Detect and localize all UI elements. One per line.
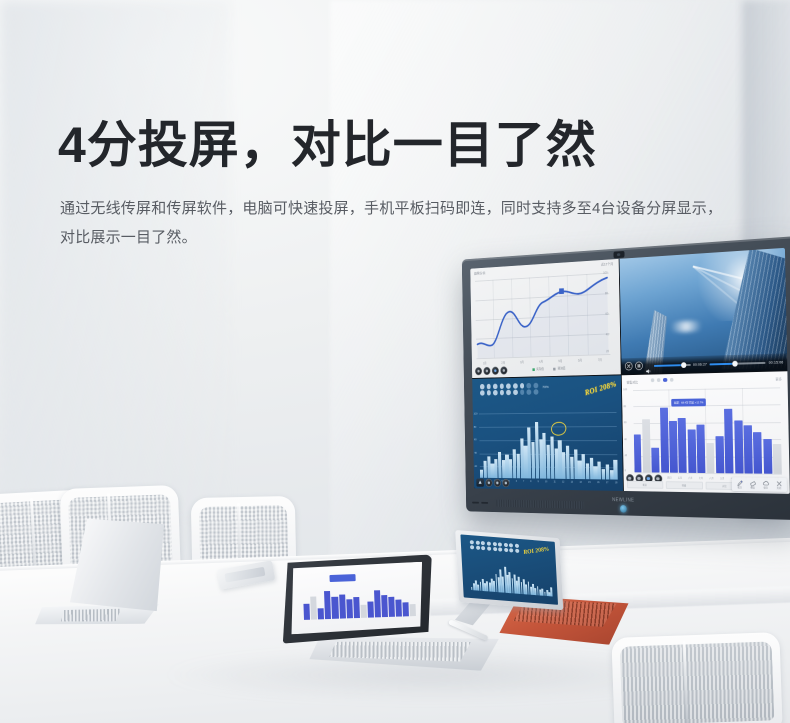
tablet-bar-series — [469, 560, 553, 597]
laptop-tooltip — [329, 574, 355, 582]
port-row — [472, 502, 488, 504]
progress-dot-matrix — [480, 383, 539, 396]
pause-icon[interactable] — [635, 362, 643, 371]
page-description: 通过无线传屏和传屏软件，电脑可快速投屏，手机平板扫码即连，同时支持多至4台设备分… — [60, 195, 736, 253]
mark-button[interactable] — [492, 367, 499, 375]
tablet-roi-annotation: ROI 208% — [523, 546, 550, 555]
mesh-chair — [611, 632, 782, 723]
more-button[interactable] — [502, 479, 509, 487]
q1-plot: 100 80 60 40 20 — [475, 273, 610, 359]
more-button[interactable] — [500, 366, 507, 374]
volume-slider[interactable] — [654, 363, 691, 366]
play-button[interactable] — [485, 479, 492, 487]
eraser-tool[interactable]: 橡皮 — [746, 479, 758, 490]
quadrant-line-chart[interactable]: 趋势分析 近12个月 100 — [470, 259, 620, 378]
laptop-screen[interactable] — [289, 562, 424, 635]
annotation-toolbar[interactable]: 批注 橡皮 保存 关闭 — [732, 477, 787, 491]
tab-overview[interactable]: 概览 — [627, 481, 663, 489]
percent-label: 70% — [542, 384, 548, 389]
q1-title: 趋势分析 — [474, 271, 486, 276]
play-button[interactable] — [475, 367, 482, 375]
close-tool-label: 关闭 — [773, 487, 785, 490]
q1-range-label[interactable]: 近12个月 — [601, 262, 613, 267]
video-progress-slider[interactable] — [710, 361, 766, 365]
tablet-with-keyboard[interactable]: ROI 208% — [450, 530, 634, 652]
cloud — [665, 320, 708, 334]
laptop-rear — [32, 553, 173, 652]
close-icon[interactable] — [624, 362, 632, 371]
mark-button[interactable] — [494, 479, 501, 487]
q3-control-buttons[interactable] — [476, 479, 509, 488]
tablet-screen[interactable]: ROI 208% — [460, 534, 558, 605]
laptop-lid — [280, 554, 435, 643]
q4-plot: 10080 6040 200 本期：68.4万 同比 +12.7% — [633, 387, 782, 474]
eraser-tool-label: 橡皮 — [747, 487, 759, 490]
q4-title: 销售对比 — [626, 380, 638, 385]
page-title: 4分投屏，对比一目了然 — [58, 117, 698, 173]
save-tool-label: 保存 — [760, 487, 772, 490]
roi-annotation: ROI 208% — [584, 380, 617, 398]
quadrant-video[interactable]: 00:06:27 00:15:06 — [619, 248, 787, 375]
pause-button[interactable] — [483, 367, 490, 375]
pen-tool[interactable]: 批注 — [734, 479, 746, 490]
wall-left-gradient — [0, 0, 230, 520]
video-current-time: 00:06:27 — [693, 362, 707, 366]
split-screen-grid: 趋势分析 近12个月 100 — [470, 248, 790, 494]
close-tool[interactable]: 关闭 — [773, 479, 785, 490]
quadrant-roi-dashboard[interactable]: 70% ROI 208% 10080 6040 20 1234567891011… — [472, 375, 622, 491]
quadrant-bar-chart[interactable]: 销售对比 更多 10080 6040 200 — [621, 371, 790, 494]
volume-icon[interactable] — [645, 362, 651, 369]
tablet-dot-matrix — [470, 540, 520, 553]
q3-bar-series — [479, 412, 617, 479]
q1-legend-item: 实际值 — [532, 366, 544, 371]
interactive-flat-panel[interactable]: NEWLINE 趋势分析 近12个月 — [462, 236, 790, 520]
panel-screen[interactable]: 趋势分析 近12个月 100 — [470, 248, 790, 494]
tab-detail[interactable]: 明细 — [665, 481, 702, 489]
q1-line-series — [475, 273, 610, 359]
q4-tooltip: 本期：68.4万 同比 +12.7% — [671, 399, 706, 406]
save-tool[interactable]: 保存 — [759, 479, 771, 490]
q4-bar-series — [633, 387, 782, 474]
laptop-bar-series — [303, 580, 416, 621]
q1-legend-item: 预测值 — [553, 366, 565, 371]
tablet-frame: ROI 208% — [455, 530, 563, 610]
q4-more-link[interactable]: 更多 — [775, 376, 781, 381]
pen-tool-label: 批注 — [734, 487, 746, 490]
q4-pagination[interactable] — [650, 378, 673, 383]
q1-legend: 实际值 预测值 — [532, 366, 565, 371]
pen-icon[interactable] — [476, 479, 484, 487]
power-indicator[interactable] — [620, 505, 627, 513]
video-total-time: 00:15:06 — [769, 360, 784, 364]
q1-control-buttons[interactable] — [475, 366, 507, 375]
scene: NEWLINE 趋势分析 近12个月 — [0, 0, 790, 723]
